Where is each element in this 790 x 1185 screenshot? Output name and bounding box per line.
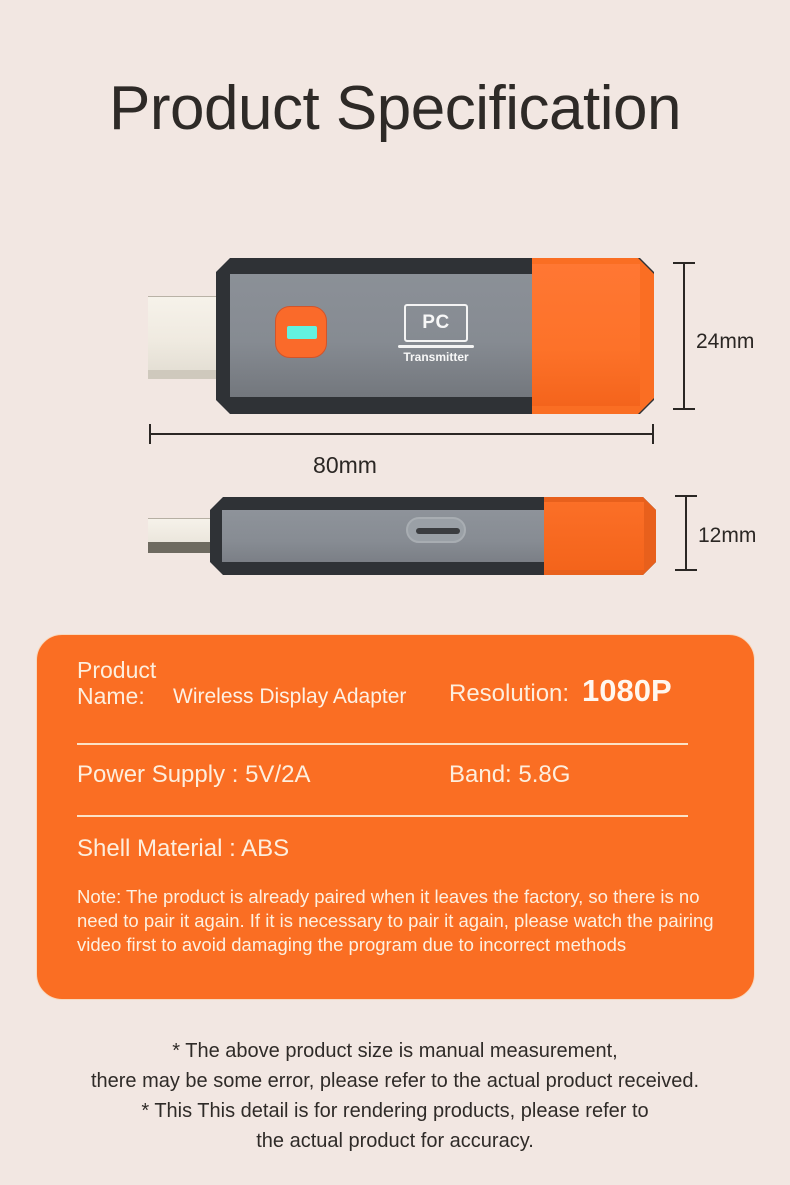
footer-line-4: the actual product for accuracy. <box>0 1126 790 1156</box>
dim-80mm-label: 80mm <box>148 452 542 479</box>
pc-icon-base <box>398 345 474 348</box>
power-supply-row: Power Supply : 5V/2A <box>77 761 310 789</box>
pairing-button[interactable] <box>275 306 327 358</box>
dim-12mm-cap-bottom <box>675 569 697 571</box>
resolution-value: 1080P <box>582 673 672 709</box>
specification-card: Product Name: Wireless Display Adapter R… <box>36 634 755 1000</box>
dim-12mm-line <box>685 495 687 571</box>
product-name-value: Wireless Display Adapter <box>173 685 406 709</box>
band-row: Band: 5.8G <box>449 761 570 789</box>
pc-laptop-icon: PC Transmitter <box>398 304 474 360</box>
led-indicator-icon <box>287 326 317 339</box>
product-name-label-line1: Product <box>77 657 156 683</box>
shell-material-row: Shell Material : ABS <box>77 835 289 863</box>
page-title: Product Specification <box>0 78 790 140</box>
device-top-view: PC Transmitter <box>148 258 654 414</box>
footer-line-3: * This This detail is for rendering prod… <box>0 1096 790 1126</box>
dim-24mm-label: 24mm <box>696 330 754 354</box>
dim-24mm-line <box>683 262 685 410</box>
usb-c-port-icon <box>406 517 466 543</box>
usb-c-port-slot <box>416 528 460 534</box>
note-text: Note: The product is already paired when… <box>77 885 737 957</box>
dim-80mm-cap-right <box>652 424 654 444</box>
device-side-view <box>148 497 656 575</box>
dim-12mm-label: 12mm <box>698 524 756 548</box>
device-orange-cap-side-face <box>544 502 644 570</box>
pc-icon-label: PC <box>404 304 468 342</box>
dim-24mm-cap-bottom <box>673 408 695 410</box>
usb-a-connector-side <box>148 518 220 545</box>
usb-a-connector-side-shadow <box>148 542 220 553</box>
product-name-label: Product Name: <box>77 657 187 709</box>
resolution-label: Resolution: <box>449 680 569 708</box>
product-name-label-line2: Name: <box>77 683 145 709</box>
card-divider-2 <box>77 815 688 817</box>
dim-80mm-line <box>149 433 654 435</box>
footer-disclaimer: * The above product size is manual measu… <box>0 1036 790 1156</box>
transmitter-caption: Transmitter <box>398 350 474 364</box>
footer-line-1: * The above product size is manual measu… <box>0 1036 790 1066</box>
usb-a-connector-shadow <box>148 370 224 379</box>
usb-a-connector <box>148 296 224 378</box>
footer-line-2: there may be some error, please refer to… <box>0 1066 790 1096</box>
device-orange-cap-face <box>532 264 640 406</box>
card-divider-1 <box>77 743 688 745</box>
device-side-face <box>222 510 544 562</box>
